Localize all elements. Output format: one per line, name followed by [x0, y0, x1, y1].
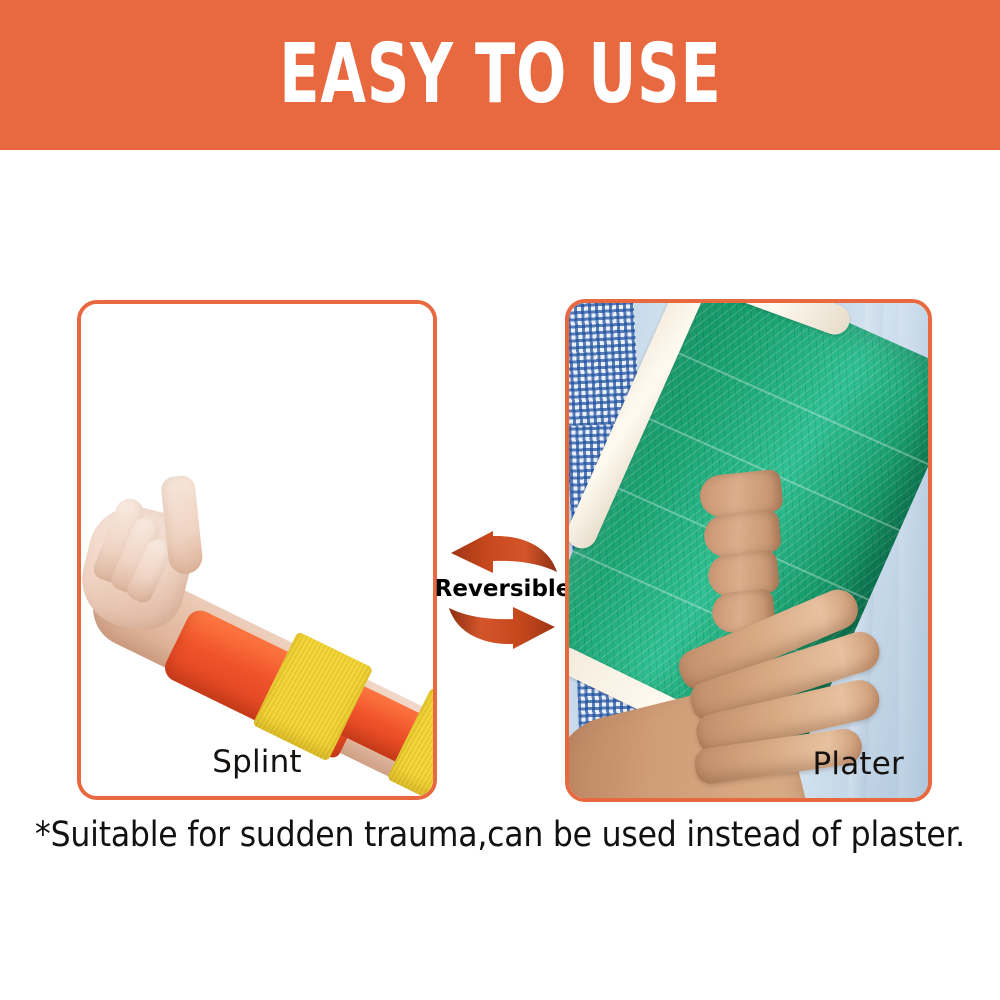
comparison-section: Splint Reversible	[0, 150, 1000, 1000]
reversible-indicator: Reversible	[437, 510, 569, 670]
plater-card[interactable]: Plater	[565, 299, 932, 802]
splint-label: Splint	[212, 744, 302, 780]
header-banner: EASY TO USE	[0, 0, 1000, 150]
plater-photo	[569, 303, 928, 798]
splint-card[interactable]: Splint	[77, 300, 437, 800]
footnote-text: *Suitable for sudden trauma,can be used …	[0, 815, 1000, 855]
page-title: EASY TO USE	[279, 34, 721, 116]
arrow-curved-right-icon	[445, 603, 561, 649]
arrow-curved-left-icon	[445, 531, 561, 577]
reversible-label: Reversible	[435, 578, 572, 601]
plater-label: Plater	[813, 746, 904, 782]
splint-photo	[81, 304, 433, 796]
